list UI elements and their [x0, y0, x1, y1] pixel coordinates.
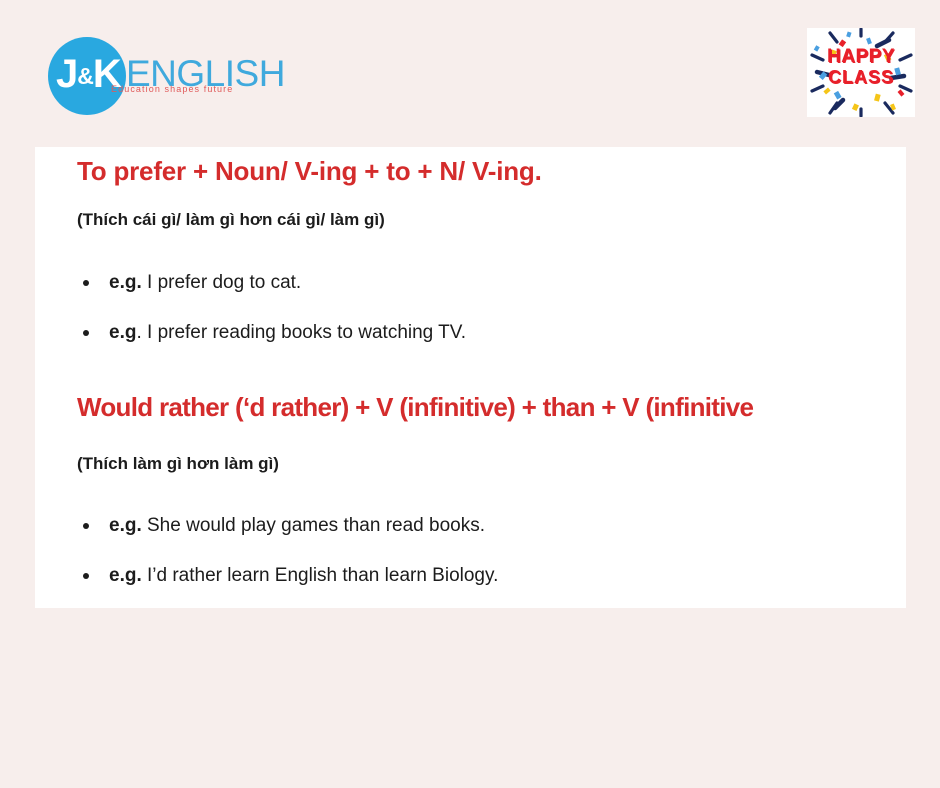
page-header: J&K ENGLISH Education shapes future [0, 0, 940, 147]
bullet-dot-icon [83, 573, 89, 579]
logo-tagline: Education shapes future [111, 84, 233, 94]
example-label: e.g. [109, 272, 142, 293]
example-list-prefer: e.g. I prefer dog to cat. e.g. I prefer … [77, 272, 466, 372]
badge-line-1: HAPPY [827, 46, 895, 67]
lesson-card: To prefer + Noun/ V-ing + to + N/ V-ing.… [35, 147, 906, 608]
happy-class-label: HAPPY CLASS [807, 46, 915, 88]
bullet-dot-icon [83, 523, 89, 529]
example-text: She would play games than read books. [142, 515, 485, 536]
list-item: e.g. I’d rather learn English than learn… [77, 565, 498, 587]
example-text: . I prefer reading books to watching TV. [136, 322, 466, 343]
bullet-dot-icon [83, 280, 89, 286]
brand-logo: J&K ENGLISH Education shapes future [48, 34, 348, 114]
example-list-would-rather: e.g. She would play games than read book… [77, 515, 498, 615]
example-text: I prefer dog to cat. [142, 272, 301, 293]
example-text: I’d rather learn English than learn Biol… [142, 565, 499, 586]
example-label: e.g [109, 322, 136, 343]
logo-ampersand: & [77, 63, 93, 89]
list-item: e.g. She would play games than read book… [77, 515, 498, 537]
rule-heading-prefer: To prefer + Noun/ V-ing + to + N/ V-ing. [77, 156, 542, 187]
badge-line-2: CLASS [807, 67, 915, 88]
rule-heading-would-rather: Would rather (‘d rather) + V (infinitive… [77, 392, 753, 423]
example-label: e.g. [109, 565, 142, 586]
happy-class-badge: HAPPY CLASS [807, 28, 915, 117]
rule-translation-would-rather: (Thích làm gì hơn làm gì) [77, 454, 279, 474]
logo-letter-j: J [56, 52, 77, 96]
rule-translation-prefer: (Thích cái gì/ làm gì hơn cái gì/ làm gì… [77, 210, 385, 230]
bullet-dot-icon [83, 330, 89, 336]
list-item: e.g. I prefer reading books to watching … [77, 322, 466, 344]
example-label: e.g. [109, 515, 142, 536]
list-item: e.g. I prefer dog to cat. [77, 272, 466, 294]
